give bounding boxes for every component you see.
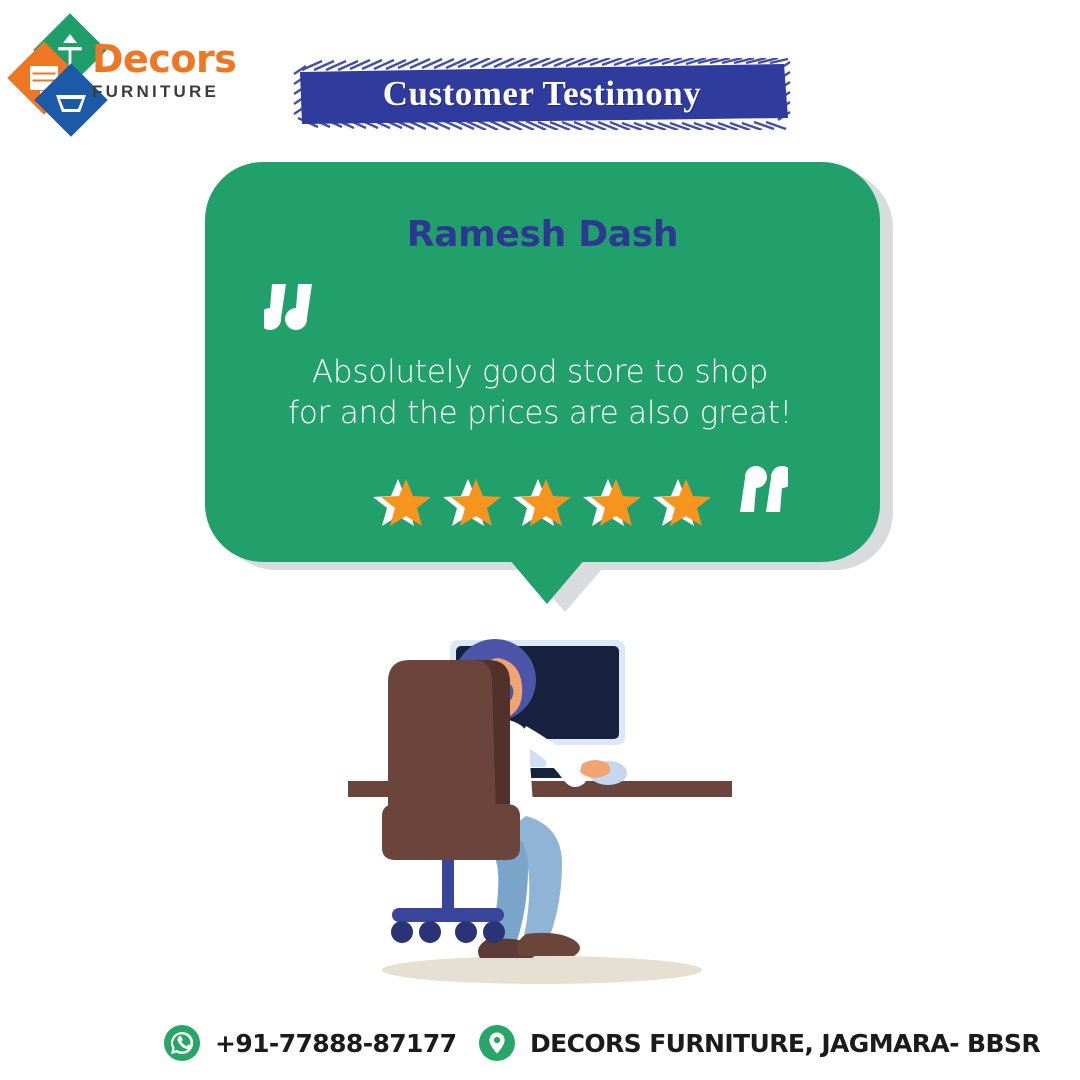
quote-open-icon	[264, 280, 334, 355]
whatsapp-icon[interactable]	[163, 1024, 201, 1062]
poster-canvas: Decors FURNITURE Customer Testimony	[0, 0, 1080, 1080]
star-icon	[512, 477, 574, 537]
star-icon	[442, 477, 504, 537]
review-line-1: Absolutely good store to shop	[230, 352, 850, 393]
footer-address-group[interactable]: DECORS FURNITURE, JAGMARA- BBSR	[478, 1024, 1040, 1062]
review-text: Absolutely good store to shop for and th…	[230, 352, 850, 434]
testimonial-card-tail	[503, 552, 591, 604]
star-icon	[372, 477, 434, 537]
star-icon	[582, 477, 644, 537]
footer-phone-group[interactable]: +91-77888-87177	[163, 1024, 456, 1062]
reviewer-name: Ramesh Dash	[205, 214, 880, 255]
logo-name-primary: Decors	[92, 40, 236, 78]
footer: +91-77888-87177 DECORS FURNITURE, JAGMAR…	[0, 1020, 1080, 1072]
footer-address[interactable]: DECORS FURNITURE, JAGMARA- BBSR	[530, 1029, 1040, 1058]
person-at-desk-illustration	[330, 618, 750, 998]
banner: Customer Testimony	[292, 58, 792, 130]
footer-phone-number[interactable]: +91-77888-87177	[215, 1029, 456, 1058]
rating-stars	[205, 472, 880, 542]
logo-wordmark: Decors FURNITURE	[92, 40, 236, 100]
review-line-2: for and the prices are also great!	[230, 393, 850, 434]
map-pin-icon[interactable]	[478, 1024, 516, 1062]
brand-logo[interactable]: Decors FURNITURE	[14, 22, 214, 122]
page-title: Customer Testimony	[292, 58, 792, 130]
floor-shadow	[382, 956, 702, 984]
star-icon	[652, 477, 714, 537]
logo-diamond-marks	[14, 22, 102, 118]
logo-name-secondary: FURNITURE	[92, 83, 236, 100]
